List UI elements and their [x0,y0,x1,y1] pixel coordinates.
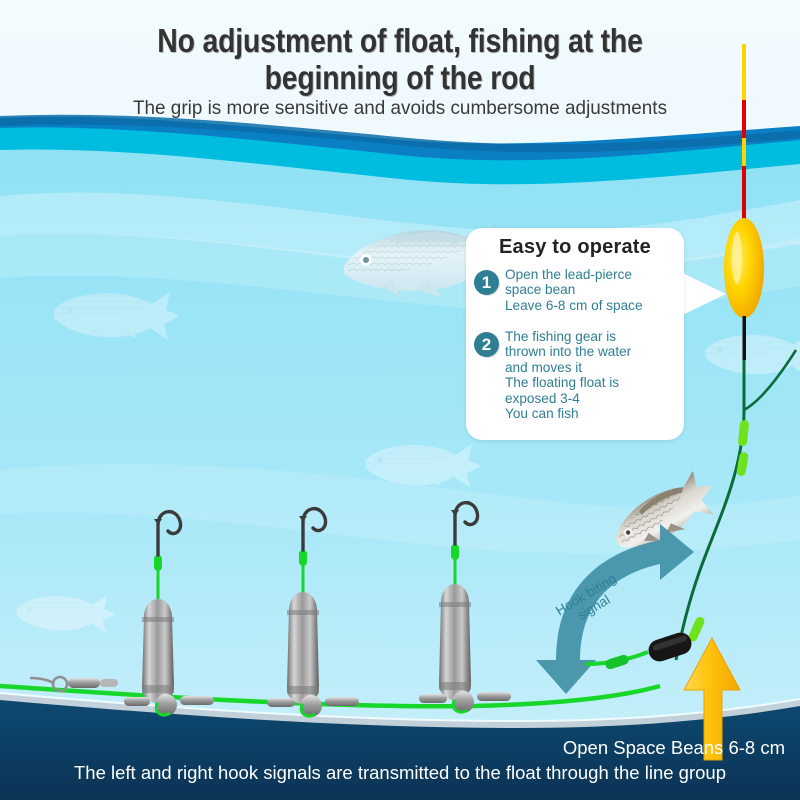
callout-step-2: 2 The fishing gear is thrown into the wa… [474,328,686,421]
step-number-badge: 1 [474,270,499,295]
callout-step-1: 1 Open the lead-pierce space bean Leave … [474,266,686,313]
easy-to-operate-callout: Easy to operate 1 Open the lead-pierce s… [466,228,684,440]
infographic-canvas: No adjustment of float, fishing at the b… [0,0,800,800]
line-group-caption: The left and right hook signals are tran… [0,762,800,784]
open-space-beans-caption: Open Space Beans 6-8 cm [0,737,785,759]
step-text: Open the lead-pierce space bean Leave 6-… [505,266,643,313]
callout-title: Easy to operate [466,236,684,259]
page-title: No adjustment of float, fishing at the b… [56,22,744,96]
step-number-badge: 2 [474,332,499,357]
step-text: The fishing gear is thrown into the wate… [505,328,631,421]
page-subtitle: The grip is more sensitive and avoids cu… [12,97,788,120]
